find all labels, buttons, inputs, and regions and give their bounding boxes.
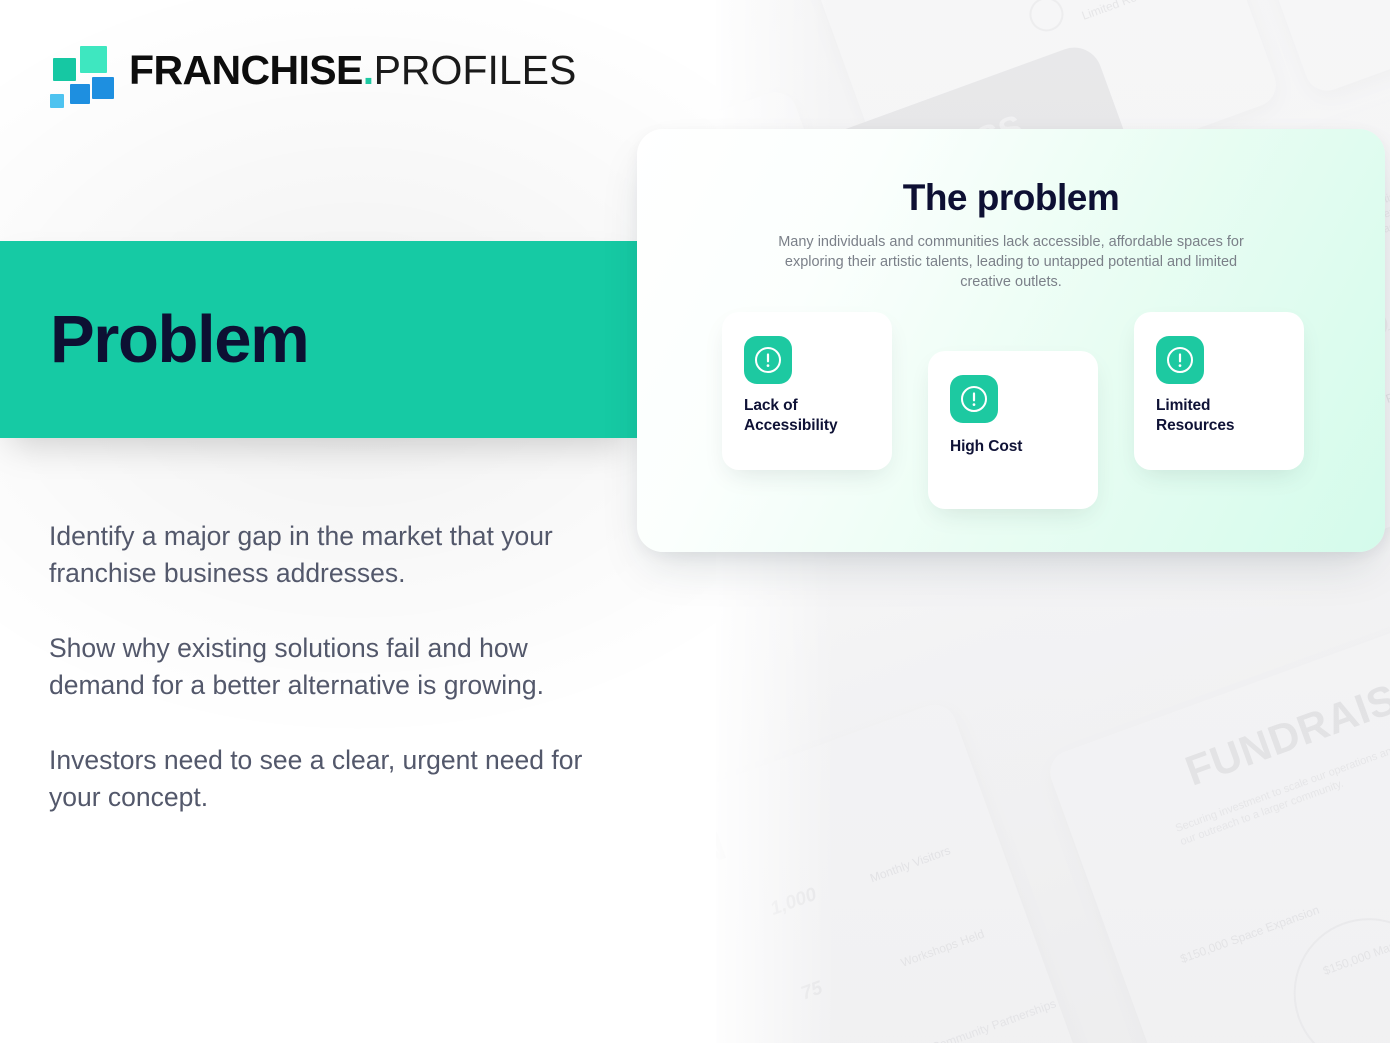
problem-tile-label: High Cost: [950, 437, 1084, 457]
logo-square-bright-teal: [80, 46, 107, 73]
section-title-banner: Problem: [0, 241, 637, 438]
description-paragraph-3: Investors need to see a clear, urgent ne…: [49, 742, 624, 816]
problem-tile-high-cost[interactable]: High Cost: [928, 351, 1098, 509]
logo-square-blue-large: [92, 77, 114, 99]
alert-circle-icon: [744, 336, 792, 384]
brand-wordmark: FRANCHISE.PROFILES: [129, 50, 576, 91]
five-squares-logo-mark-icon: [48, 44, 102, 96]
left-content-panel: FRANCHISE.PROFILES Problem Identify a ma…: [0, 0, 716, 1043]
logo-square-light-blue: [50, 94, 64, 108]
description-paragraph-2: Show why existing solutions fail and how…: [49, 630, 624, 704]
slide-preview-screen: Drop-In Fees Session Workshops Commissio…: [0, 0, 1390, 1043]
problem-tile-lack-of-accessibility[interactable]: Lack of Accessibility: [722, 312, 892, 470]
problem-tiles-group: Lack of Accessibility High Cost: [637, 129, 1385, 552]
problem-tile-limited-resources[interactable]: Limited Resources: [1134, 312, 1304, 470]
page-title: Problem: [50, 306, 308, 373]
problem-tile-label: Lack of Accessibility: [744, 396, 878, 436]
brand-name-dot: .: [363, 47, 374, 93]
brand-logo[interactable]: FRANCHISE.PROFILES: [48, 44, 576, 96]
problem-tile-label: Limited Resources: [1156, 396, 1290, 436]
logo-square-teal: [53, 58, 76, 81]
description-paragraph-1: Identify a major gap in the market that …: [49, 518, 624, 592]
logo-square-blue-small: [70, 84, 90, 104]
alert-circle-icon: [1156, 336, 1204, 384]
alert-circle-icon: [950, 375, 998, 423]
brand-name-thin: PROFILES: [374, 47, 577, 93]
section-description: Identify a major gap in the market that …: [49, 518, 624, 816]
brand-name-bold: FRANCHISE: [129, 47, 363, 93]
problem-slide-preview-card[interactable]: The problem Many individuals and communi…: [637, 129, 1385, 552]
